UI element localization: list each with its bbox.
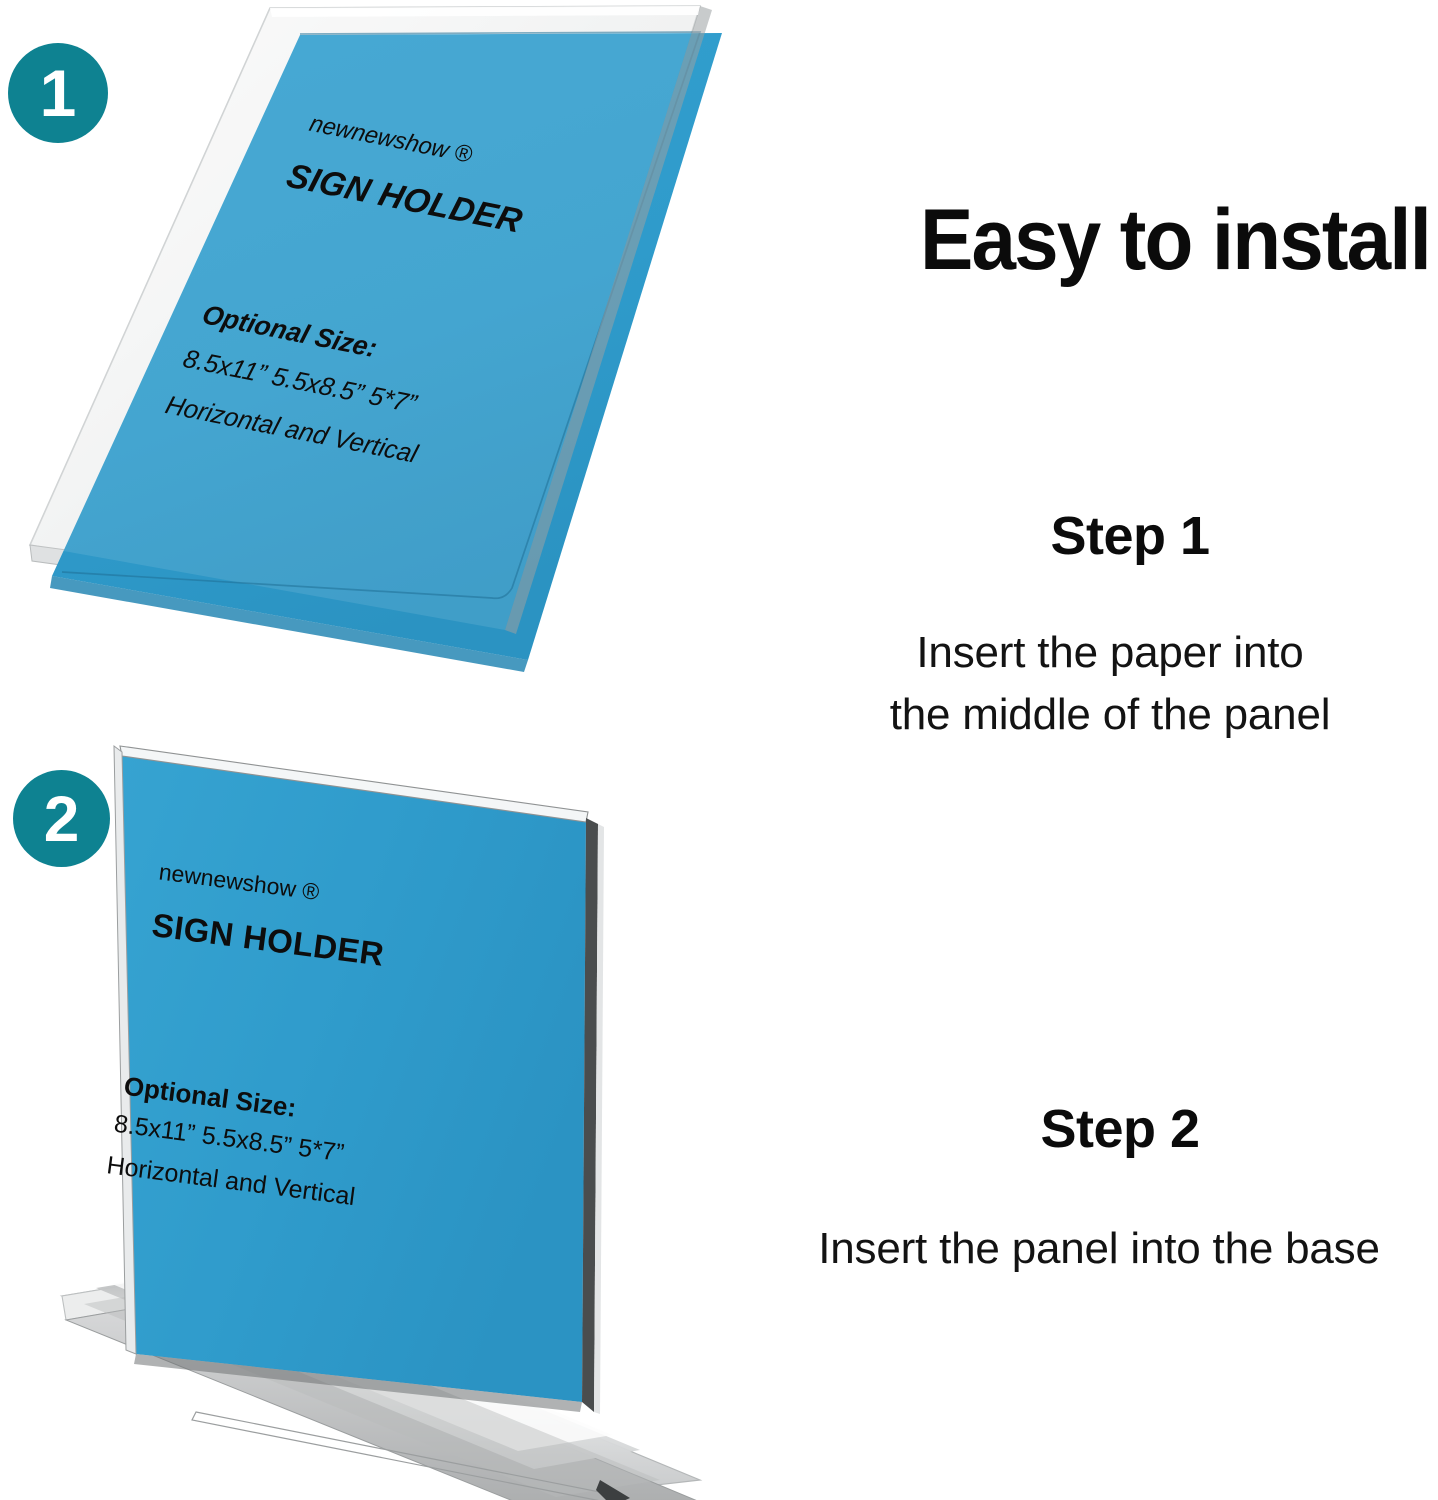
page-headline: Easy to install: [863, 196, 1430, 285]
sign-brand-text: newnewshow ®: [157, 858, 321, 906]
step-1-body-line-2: the middle of the panel: [800, 684, 1420, 746]
step-2-badge: 2: [13, 770, 110, 867]
step-1-illustration: newnewshow ® SIGN HOLDER Optional Size: …: [0, 0, 760, 680]
step-1-title: Step 1: [860, 505, 1400, 567]
sign-brand-text: newnewshow ®: [306, 109, 475, 168]
step-2-illustration: newnewshow ® SIGN HOLDER Optional Size: …: [0, 690, 760, 1500]
product-instruction-graphic: newnewshow ® SIGN HOLDER Optional Size: …: [0, 0, 1438, 1500]
step-1-body: Insert the paper into the middle of the …: [800, 622, 1420, 747]
sign-title-text: SIGN HOLDER: [282, 156, 527, 241]
sign-title-text: SIGN HOLDER: [150, 906, 387, 974]
step-2-title: Step 2: [820, 1098, 1420, 1160]
step-2-body: Insert the panel into the base: [760, 1218, 1438, 1280]
step-2-body-line-1: Insert the panel into the base: [760, 1218, 1438, 1280]
step-1-body-line-1: Insert the paper into: [800, 622, 1420, 684]
step-1-badge: 1: [8, 43, 108, 143]
